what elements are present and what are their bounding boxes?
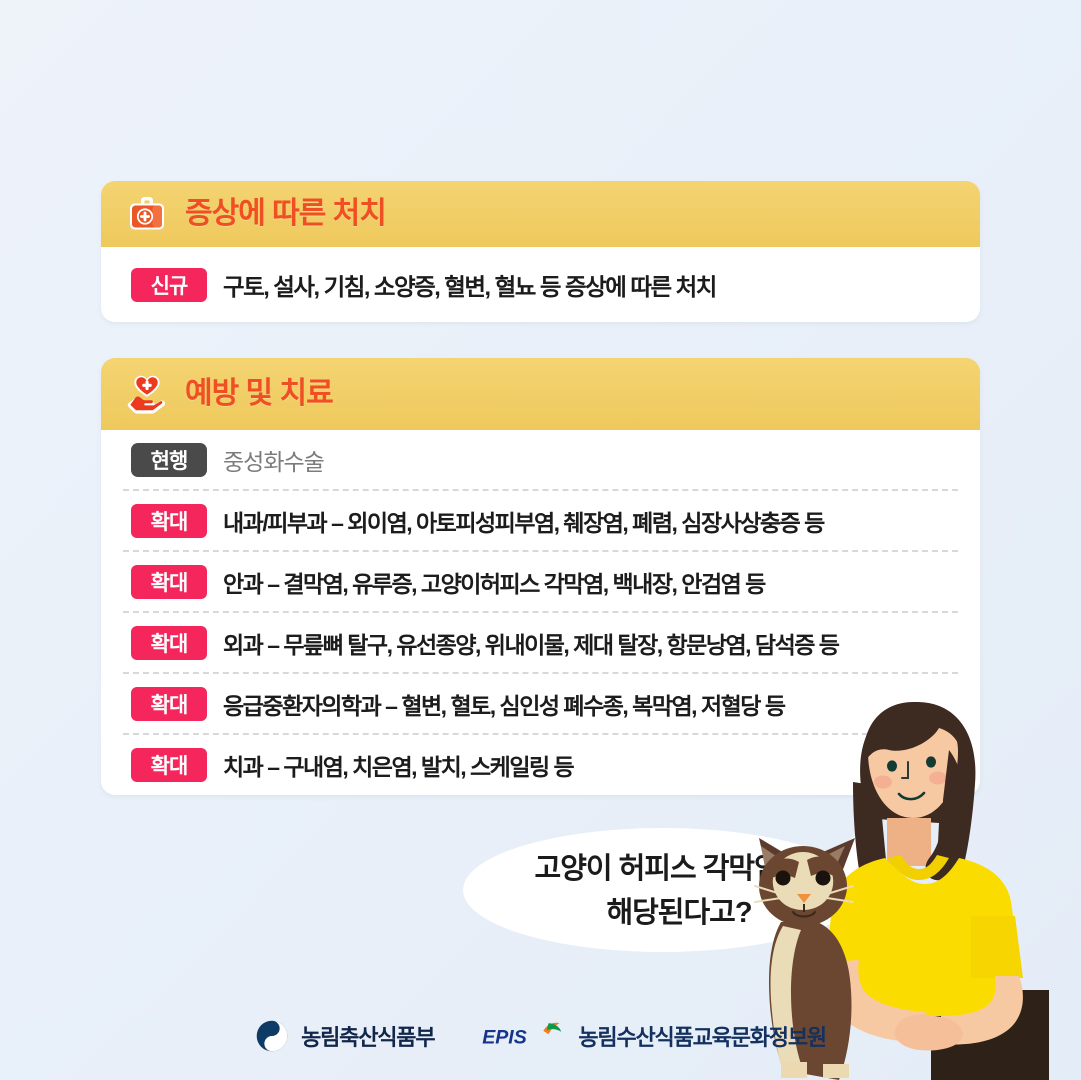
row-text: 치과 – 구내염, 치은염, 발치, 스케일링 등 — [223, 748, 573, 782]
row-text: 구토, 설사, 기침, 소양증, 혈변, 혈뇨 등 증상에 따른 처치 — [223, 268, 716, 302]
table-row: 확대 외과 – 무릎뼈 탈구, 유선종양, 위내이물, 제대 탈장, 항문낭염,… — [121, 613, 960, 672]
card-prevention-title: 예방 및 치료 — [185, 379, 333, 409]
taegeuk-logo — [255, 1019, 289, 1053]
footer: 농림축산식품부 EPIS 농림수산식품교육문화정보원 — [0, 1008, 1081, 1064]
status-badge: 확대 — [131, 687, 207, 721]
status-badge: 현행 — [131, 443, 207, 477]
status-badge: 확대 — [131, 748, 207, 782]
left-blush — [874, 776, 892, 789]
svg-text:EPIS: EPIS — [483, 1027, 528, 1049]
heart-in-hand-icon — [123, 370, 171, 418]
row-text: 응급중환자의학과 – 혈변, 혈토, 심인성 폐수종, 복막염, 저혈당 등 — [223, 687, 784, 721]
right-eye — [926, 756, 936, 767]
status-badge: 신규 — [131, 268, 207, 302]
status-badge: 확대 — [131, 504, 207, 538]
right-blush — [929, 772, 947, 785]
logo-group-mafra: 농림축산식품부 — [255, 1019, 434, 1053]
card-symptom-title: 증상에 따른 처치 — [185, 199, 386, 229]
cat-eye-right — [816, 871, 831, 886]
cat-eye-left — [776, 871, 791, 886]
status-badge: 확대 — [131, 626, 207, 660]
card-symptom-header: 증상에 따른 처치 — [101, 181, 980, 247]
card-symptom-body: 신규 구토, 설사, 기침, 소양증, 혈변, 혈뇨 등 증상에 따른 처치 — [101, 247, 980, 322]
epis-logo: EPIS — [480, 1019, 566, 1053]
row-text: 외과 – 무릎뼈 탈구, 유선종양, 위내이물, 제대 탈장, 항문낭염, 담석… — [223, 626, 838, 660]
table-row: 확대 안과 – 결막염, 유루증, 고양이허피스 각막염, 백내장, 안검염 등 — [121, 552, 960, 611]
speech-bubble-line2: 해당된다고? — [606, 889, 751, 931]
status-badge: 확대 — [131, 565, 207, 599]
row-text: 중성화수술 — [223, 443, 324, 477]
card-prevention-header: 예방 및 치료 — [101, 358, 980, 430]
table-row: 신규 구토, 설사, 기침, 소양증, 혈변, 혈뇨 등 증상에 따른 처치 — [121, 247, 960, 322]
card-symptom: 증상에 따른 처치 신규 구토, 설사, 기침, 소양증, 혈변, 혈뇨 등 증… — [101, 181, 980, 322]
left-eye — [887, 760, 897, 771]
table-row: 현행 중성화수술 — [121, 430, 960, 489]
infographic-canvas: 증상에 따른 처치 신규 구토, 설사, 기침, 소양증, 혈변, 혈뇨 등 증… — [0, 0, 1081, 1080]
row-text: 내과/피부과 – 외이염, 아토피성피부염, 췌장염, 폐렴, 심장사상충증 등 — [223, 504, 824, 538]
row-text: 안과 – 결막염, 유루증, 고양이허피스 각막염, 백내장, 안검염 등 — [223, 565, 765, 599]
sleeve-right — [971, 916, 1023, 978]
logo-group-epis: EPIS 농림수산식품교육문화정보원 — [480, 1019, 826, 1053]
first-aid-kit-icon — [123, 190, 171, 238]
logo-label-epis: 농림수산식품교육문화정보원 — [578, 1020, 826, 1052]
table-row: 확대 내과/피부과 – 외이염, 아토피성피부염, 췌장염, 폐렴, 심장사상충… — [121, 491, 960, 550]
logo-label-mafra: 농림축산식품부 — [301, 1020, 434, 1052]
